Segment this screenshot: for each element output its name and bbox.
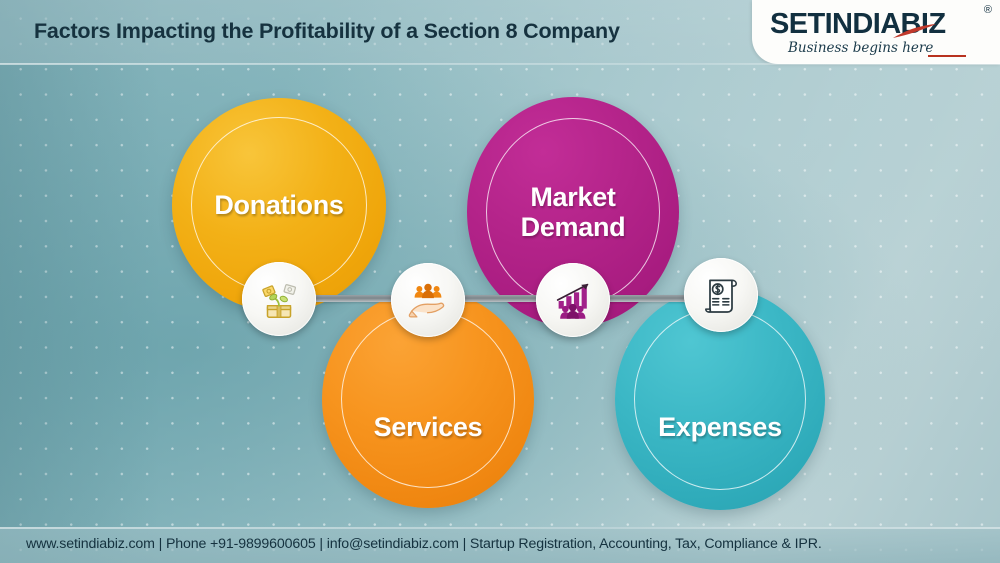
growth-chart-people-icon [550, 277, 596, 323]
page-title: Factors Impacting the Profitability of a… [34, 19, 620, 44]
logo-wordmark: SETINDIABIZ [770, 8, 945, 41]
footer-contact-text: www.setindiabiz.com | Phone +91-98996006… [26, 536, 822, 552]
footer-bar: www.setindiabiz.com | Phone +91-98996006… [0, 527, 1000, 563]
header-divider [0, 63, 1000, 65]
services-icon-badge[interactable] [391, 263, 465, 337]
logo-tagline-underline [928, 55, 966, 57]
market-demand-label: Market Demand [521, 182, 626, 242]
expenses-label: Expenses [658, 412, 782, 442]
hand-holding-people-icon [405, 277, 451, 323]
infographic-canvas: Donations [0, 0, 1000, 563]
connector-line [262, 295, 717, 302]
market-demand-icon-badge[interactable] [536, 263, 610, 337]
footer-divider [0, 527, 1000, 529]
logo[interactable]: SETINDIABIZ ® Business begins here [752, 0, 1000, 64]
expenses-inner-ring [634, 308, 806, 490]
donations-label: Donations [214, 190, 343, 220]
market-demand-label-line2: Demand [521, 212, 626, 242]
registered-trademark-icon: ® [984, 4, 992, 16]
header-bar: Factors Impacting the Profitability of a… [0, 0, 1000, 64]
logo-tagline: Business begins here [788, 40, 933, 56]
expenses-icon-badge[interactable] [684, 258, 758, 332]
services-label: Services [374, 412, 483, 442]
market-demand-label-line1: Market [530, 182, 615, 212]
donations-icon-badge[interactable] [242, 262, 316, 336]
invoice-dollar-icon [699, 273, 743, 317]
donation-box-icon [256, 276, 302, 322]
